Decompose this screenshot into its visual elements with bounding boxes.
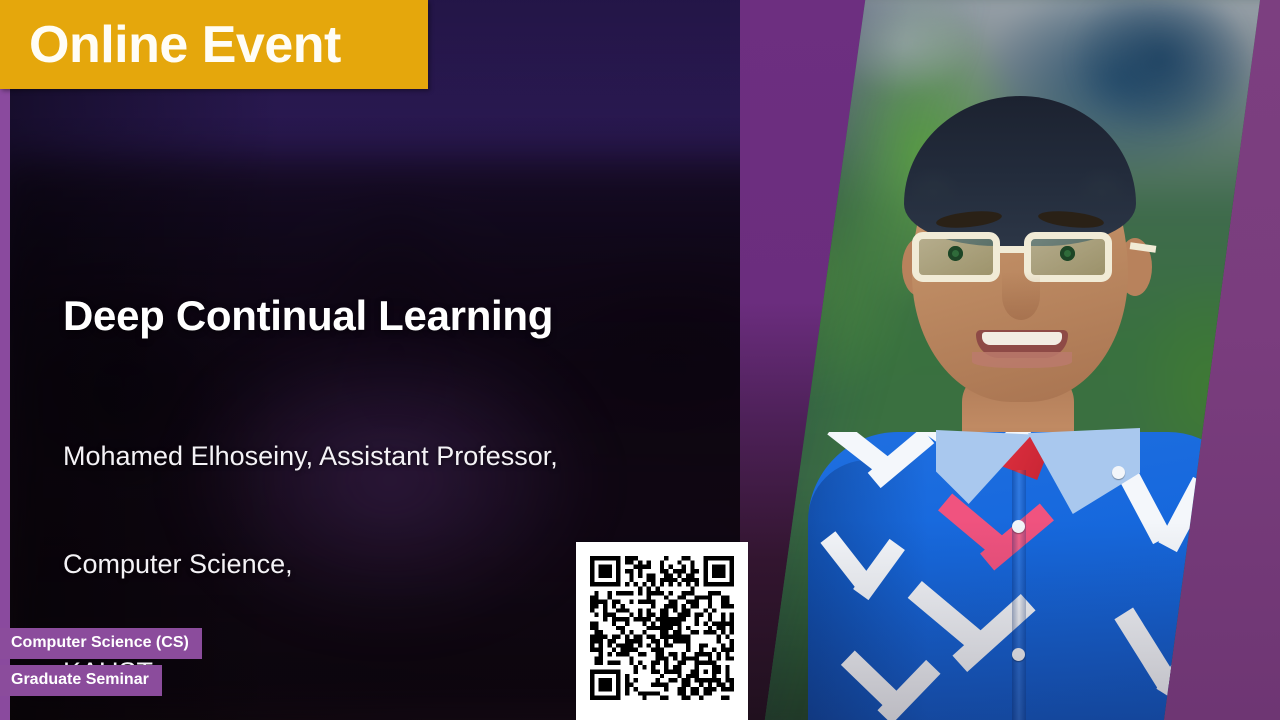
badge-computer-science: Computer Science (CS) bbox=[0, 628, 202, 659]
speaker-department: Computer Science, bbox=[63, 546, 558, 582]
page-title: Deep Continual Learning bbox=[63, 294, 553, 338]
badge-row-department: Computer Science (CS) bbox=[0, 628, 202, 659]
qr-code-svg bbox=[590, 556, 734, 700]
event-poster: Online Event Deep Continual Learning Moh… bbox=[0, 0, 1280, 720]
portrait-panel bbox=[740, 0, 1280, 720]
badge-row-series: Graduate Seminar bbox=[0, 665, 202, 696]
online-event-banner: Online Event bbox=[0, 0, 428, 89]
left-accent-strip bbox=[0, 88, 10, 720]
speaker-name-title: Mohamed Elhoseiny, Assistant Professor, bbox=[63, 438, 558, 474]
qr-code[interactable] bbox=[576, 542, 748, 720]
online-event-label: Online Event bbox=[29, 19, 341, 71]
category-badges: Computer Science (CS) Graduate Seminar bbox=[0, 628, 202, 696]
badge-graduate-seminar: Graduate Seminar bbox=[0, 665, 162, 696]
qr-code-matrix bbox=[590, 556, 734, 700]
